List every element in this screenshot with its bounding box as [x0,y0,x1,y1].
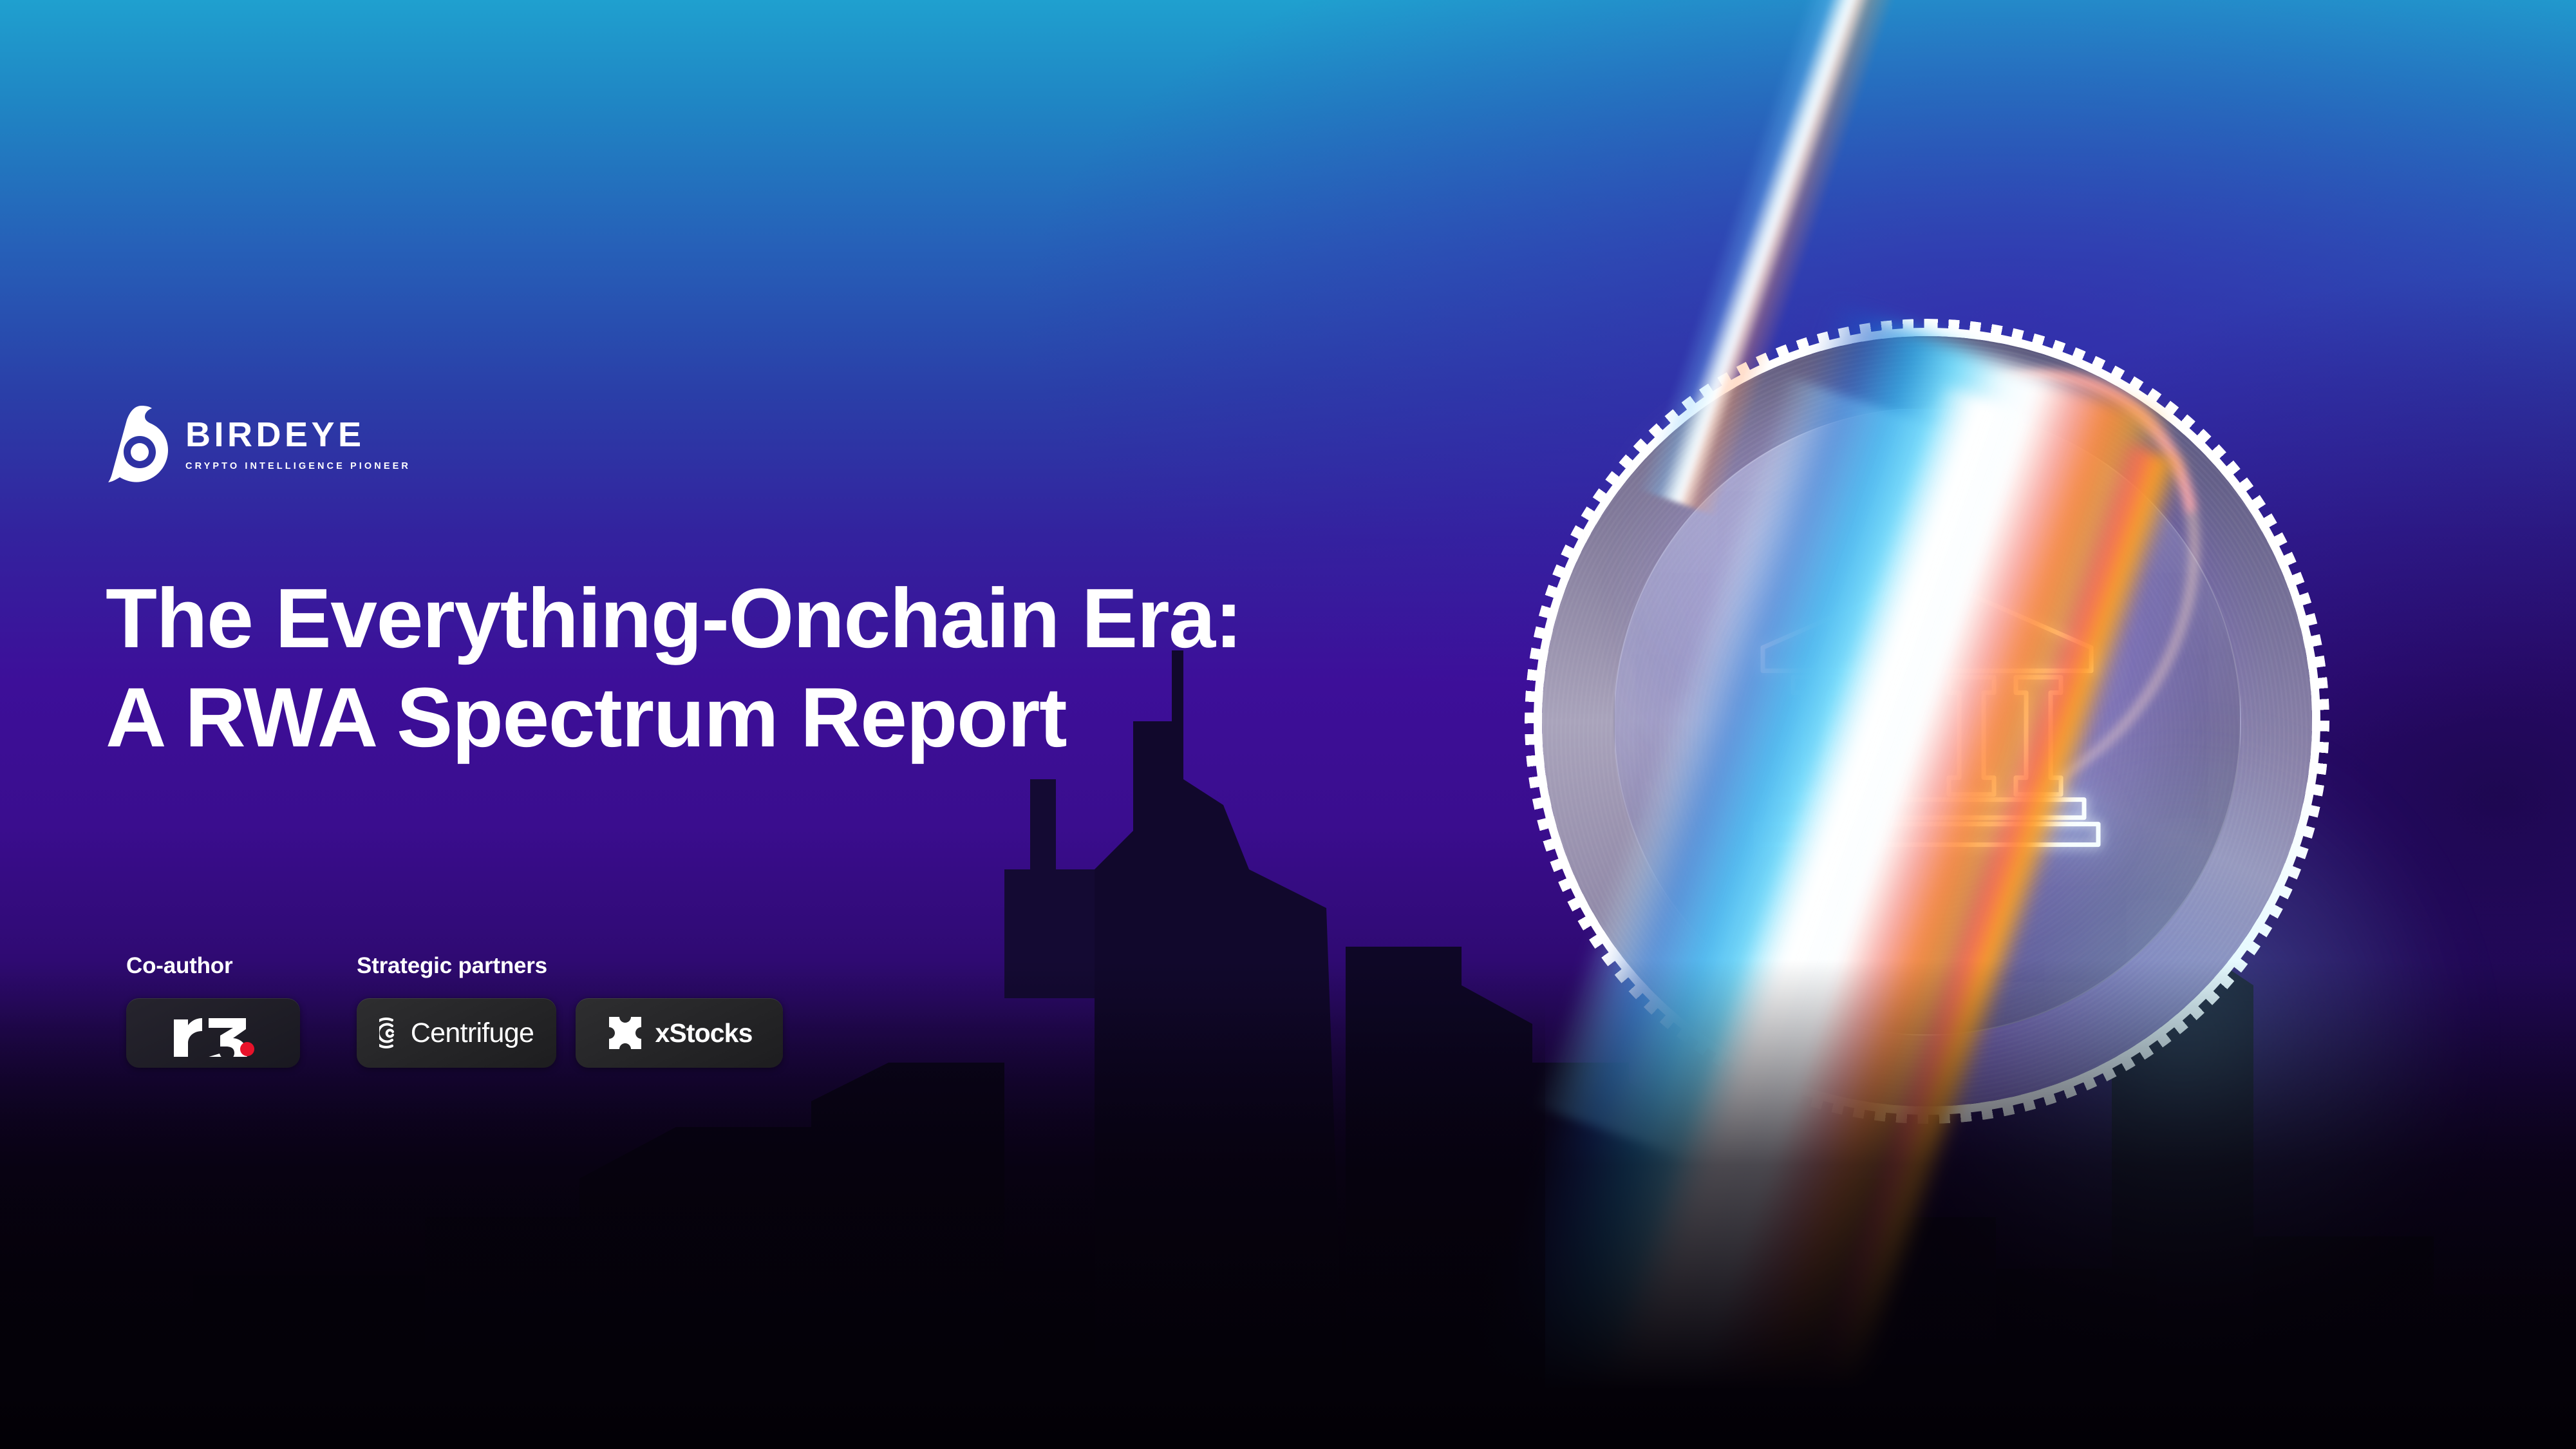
xstocks-wordmark: xStocks [655,1020,753,1046]
page-title: The Everything-Onchain Era: A RWA Spectr… [106,569,1242,768]
birdeye-bird-icon [108,404,171,483]
birdeye-tagline: CRYPTO INTELLIGENCE PIONEER [185,461,411,471]
xstocks-x-icon [606,1014,644,1052]
credits-section: Co-author Strategic partners [126,953,783,1068]
report-cover: BIRDEYE CRYPTO INTELLIGENCE PIONEER The … [0,0,2576,1449]
coauthor-label: Co-author [126,953,300,979]
r3-logo-icon [171,1009,255,1057]
centrifuge-arcs-icon [379,1015,413,1051]
partner-logo-centrifuge[interactable]: Centrifuge [357,998,556,1068]
coauthor-group: Co-author [126,953,300,1068]
partner-logo-r3[interactable] [126,998,300,1068]
centrifuge-wordmark: Centrifuge [411,1019,534,1047]
birdeye-wordmark: BIRDEYE [185,417,411,452]
partner-logo-xstocks[interactable]: xStocks [576,998,783,1068]
strategic-partners-label: Strategic partners [357,953,783,979]
birdeye-logo[interactable]: BIRDEYE CRYPTO INTELLIGENCE PIONEER [108,404,411,483]
strategic-partners-group: Strategic partners Centrifuge [357,953,783,1068]
